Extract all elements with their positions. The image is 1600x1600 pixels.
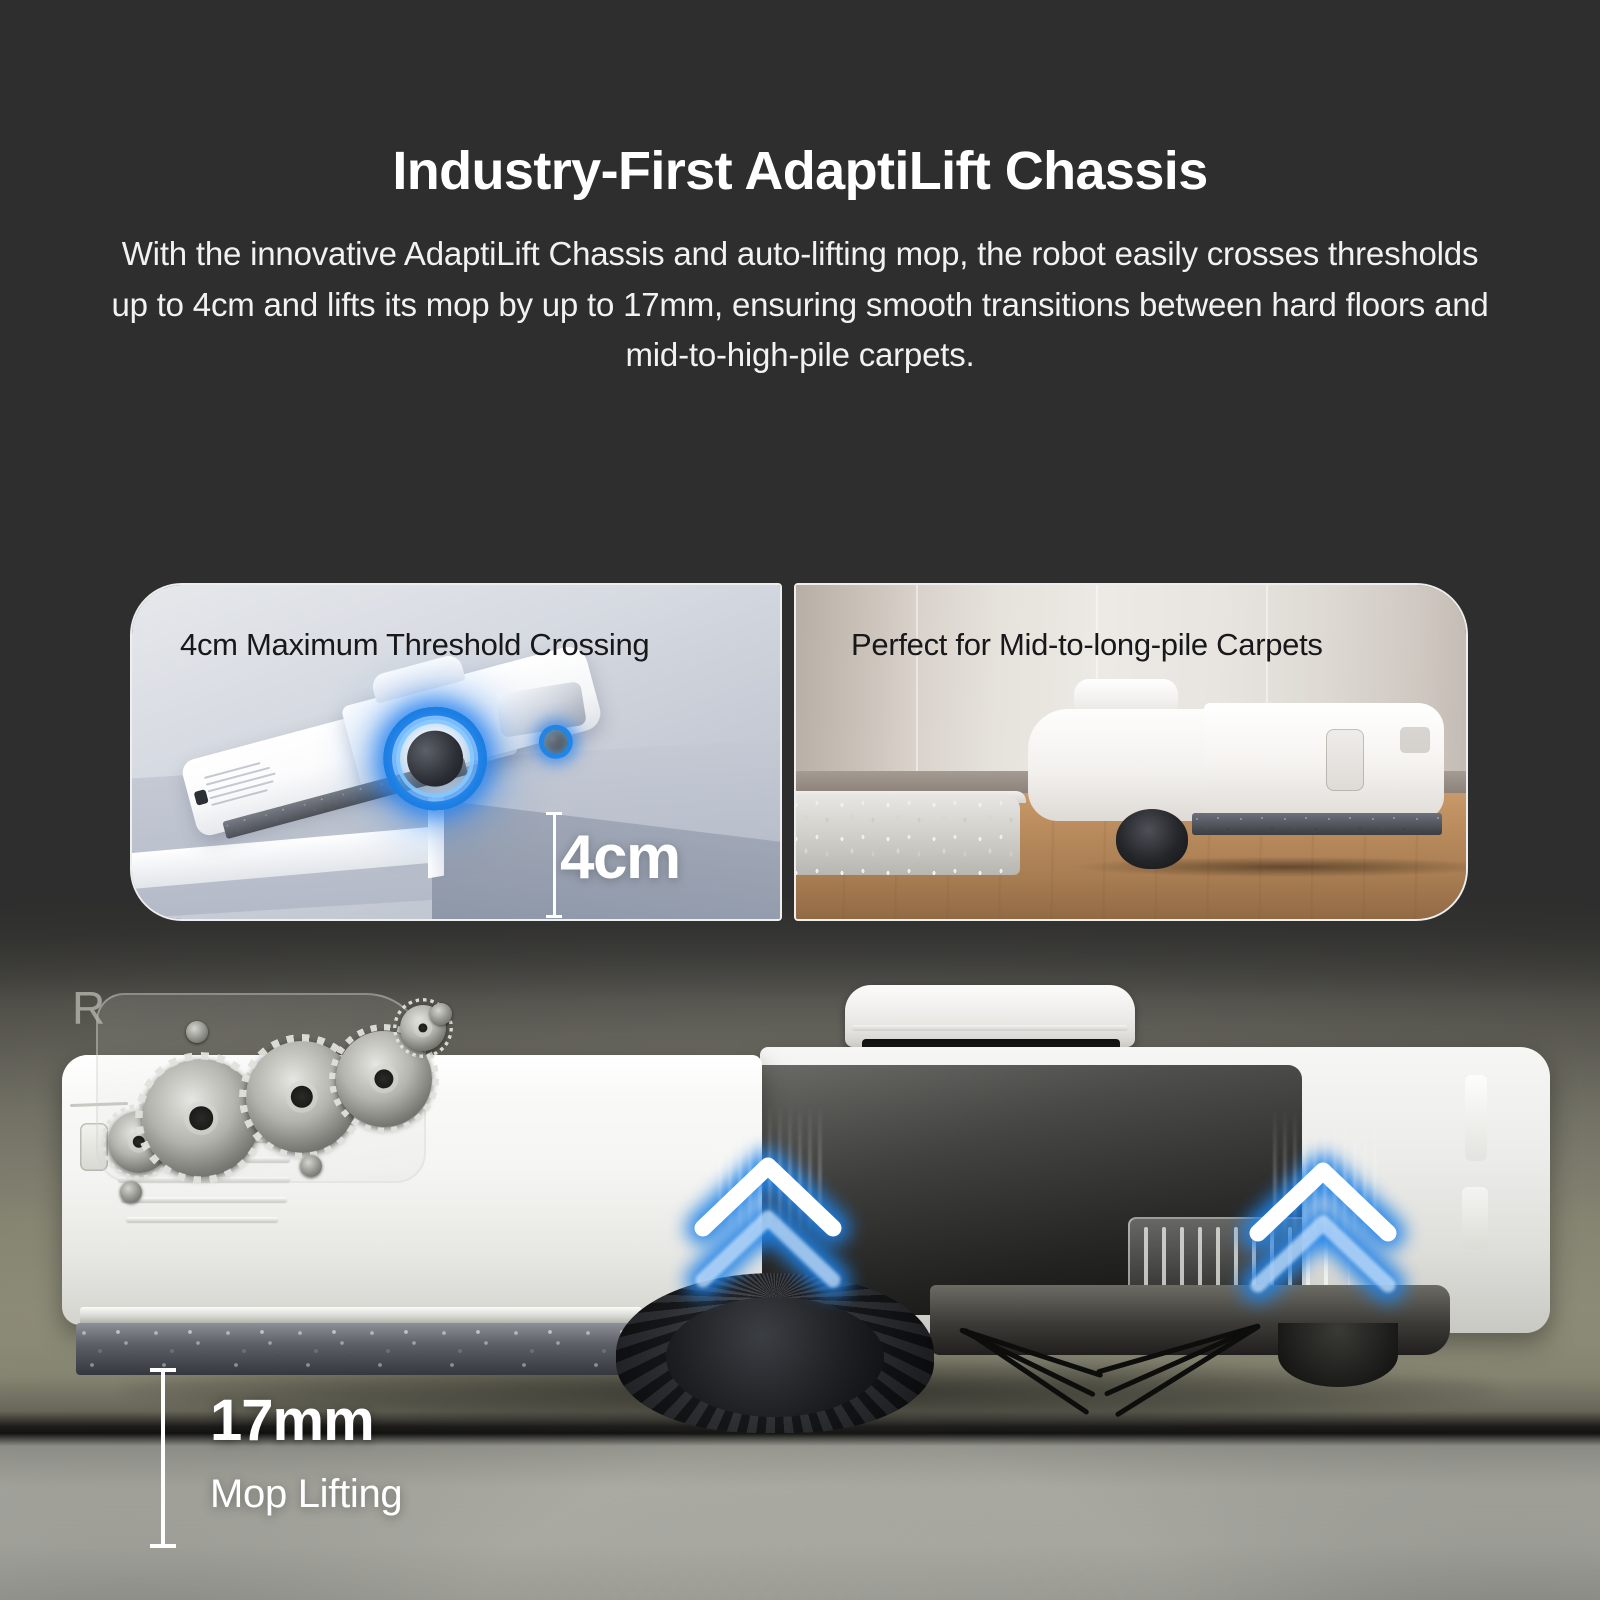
page-title: Industry-First AdaptiLift Chassis bbox=[0, 142, 1600, 201]
wheel-marking-label: R bbox=[72, 981, 105, 1035]
measurement-cap-bottom bbox=[546, 915, 562, 918]
bolt-1-icon bbox=[186, 1021, 208, 1043]
measurement-cap-bottom bbox=[150, 1544, 176, 1548]
robot-mop-pad bbox=[1192, 813, 1442, 835]
bolt-2-icon bbox=[120, 1181, 142, 1203]
robot-body-right bbox=[1204, 703, 1444, 819]
robot-slot bbox=[1400, 727, 1430, 753]
robot-body-left bbox=[1028, 709, 1210, 821]
card-heading-carpet: Perfect for Mid-to-long-pile Carpets bbox=[796, 627, 1466, 663]
measurement-label-mop-lifting: Mop Lifting bbox=[210, 1474, 402, 1514]
card-heading-threshold: 4cm Maximum Threshold Crossing bbox=[132, 627, 780, 663]
hero-bumper-notch-top bbox=[1465, 1075, 1487, 1161]
bolt-3-icon bbox=[300, 1155, 322, 1177]
hero-castor-wheel bbox=[1278, 1323, 1398, 1387]
page-subtitle: With the innovative AdaptiLift Chassis a… bbox=[100, 229, 1500, 379]
lift-arrow-left-icon bbox=[683, 1150, 853, 1300]
measurement-bar bbox=[553, 812, 556, 918]
measurement-bar bbox=[161, 1368, 165, 1548]
hero-bumper-notch-bottom bbox=[1462, 1187, 1488, 1249]
feature-cards: 4cm Maximum Threshold Crossing Per bbox=[130, 583, 1468, 921]
lift-motion-streaks-left bbox=[713, 1104, 823, 1234]
card-carpet: Perfect for Mid-to-long-pile Carpets bbox=[794, 583, 1468, 921]
product-feature-page: Industry-First AdaptiLift Chassis With t… bbox=[0, 0, 1600, 1600]
lift-motion-streaks-right bbox=[1268, 1109, 1378, 1239]
lidar-dome-icon bbox=[1074, 679, 1178, 709]
measurement-value-17mm: 17mm bbox=[210, 1392, 402, 1450]
card-threshold-crossing: 4cm Maximum Threshold Crossing bbox=[130, 583, 782, 921]
robot-panel bbox=[1326, 729, 1364, 791]
hero-lidar-turret bbox=[845, 985, 1135, 1047]
hero-turret-seam bbox=[852, 1025, 1128, 1031]
measurement-line-17mm bbox=[150, 1368, 176, 1548]
robot-wheel bbox=[1116, 809, 1188, 869]
measurement-value-4cm: 4cm bbox=[560, 822, 680, 893]
mop-lifting-annotation: 17mm Mop Lifting bbox=[210, 1392, 402, 1514]
lift-arrow-right-icon bbox=[1238, 1155, 1408, 1305]
robot-on-floor-photo bbox=[956, 701, 1436, 851]
wheel-hub bbox=[666, 1297, 884, 1417]
header: Industry-First AdaptiLift Chassis With t… bbox=[0, 0, 1600, 380]
wall-seam-1 bbox=[916, 585, 918, 790]
hero-side-brush-right bbox=[1040, 1323, 1260, 1383]
bolt-4-icon bbox=[430, 1003, 452, 1025]
